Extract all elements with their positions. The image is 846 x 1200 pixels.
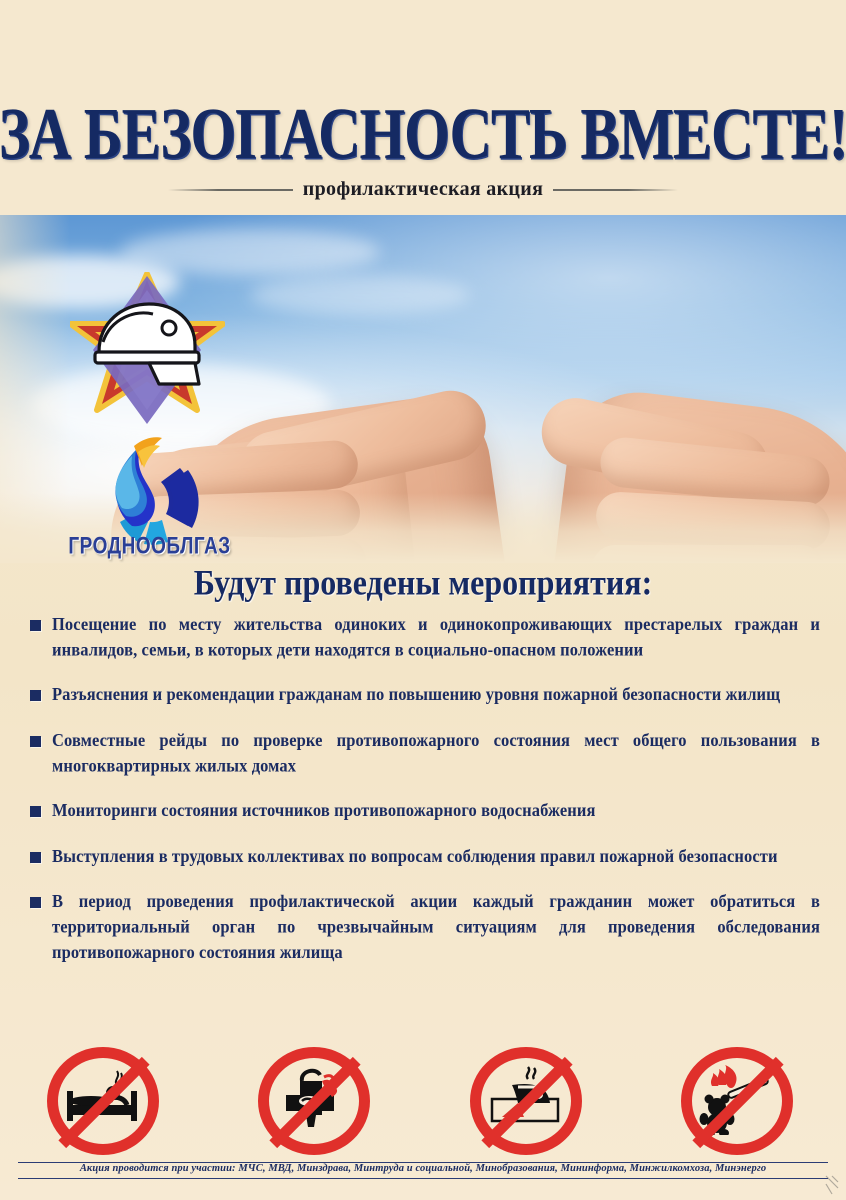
list-item: В период проведения профилактической акц…	[30, 889, 820, 961]
subtitle-rule-right	[553, 189, 678, 191]
no-children-with-matches-icon	[675, 1045, 805, 1157]
no-smoking-in-bed-icon	[41, 1045, 171, 1157]
page-title: ЗА БЕЗОПАСНОСТЬ ВМЕСТЕ!	[0, 98, 846, 171]
subtitle: профилактическая акция	[303, 178, 543, 201]
bullet-square-icon	[30, 620, 41, 631]
list-item: Мониторинги состояния источников противо…	[30, 798, 820, 822]
list-item-text: В период проведения профилактической акц…	[52, 889, 820, 965]
grodnooblgaz-label: ГРОДНООБЛГАЗ	[62, 533, 237, 561]
section-heading: Будут проведены мероприятия:	[0, 562, 846, 603]
list-item: Совместные рейды по проверке противопожа…	[30, 728, 820, 776]
subtitle-block: профилактическая акция	[0, 178, 846, 201]
bullet-square-icon	[30, 806, 41, 817]
list-item: Выступления в трудовых коллективах по во…	[30, 844, 820, 868]
no-unattended-iron-icon	[464, 1045, 594, 1157]
footer-rule-bottom	[18, 1178, 828, 1179]
bullet-square-icon	[30, 852, 41, 863]
list-item-text: Разъяснения и рекомендации гражданам по …	[52, 682, 820, 707]
bullet-square-icon	[30, 897, 41, 908]
poster-root: ЗА БЕЗОПАСНОСТЬ ВМЕСТЕ! профилактическая…	[0, 0, 846, 1200]
title-block: ЗА БЕЗОПАСНОСТЬ ВМЕСТЕ!	[0, 98, 846, 155]
measures-list: Посещение по месту жительства одиноких и…	[30, 612, 820, 983]
cloud	[120, 229, 380, 275]
no-open-flame-lamp-icon	[252, 1045, 382, 1157]
footer-text: Акция проводится при участии: МЧС, МВД, …	[18, 1163, 828, 1174]
list-item-text: Совместные рейды по проверке противопожа…	[52, 728, 820, 779]
list-item-text: Выступления в трудовых коллективах по во…	[52, 844, 820, 869]
subtitle-rule-left	[168, 189, 293, 191]
list-item: Посещение по месту жительства одиноких и…	[30, 612, 820, 660]
bullet-square-icon	[30, 690, 41, 701]
prohibition-icons-row	[0, 1042, 846, 1160]
bullet-square-icon	[30, 736, 41, 747]
list-item-text: Мониторинги состояния источников противо…	[52, 798, 820, 823]
mchs-emblem	[70, 272, 225, 432]
cloud	[250, 275, 470, 315]
list-item: Разъяснения и рекомендации гражданам по …	[30, 682, 820, 706]
corner-mark-icon	[824, 1174, 840, 1196]
list-item-text: Посещение по месту жительства одиноких и…	[52, 612, 820, 663]
